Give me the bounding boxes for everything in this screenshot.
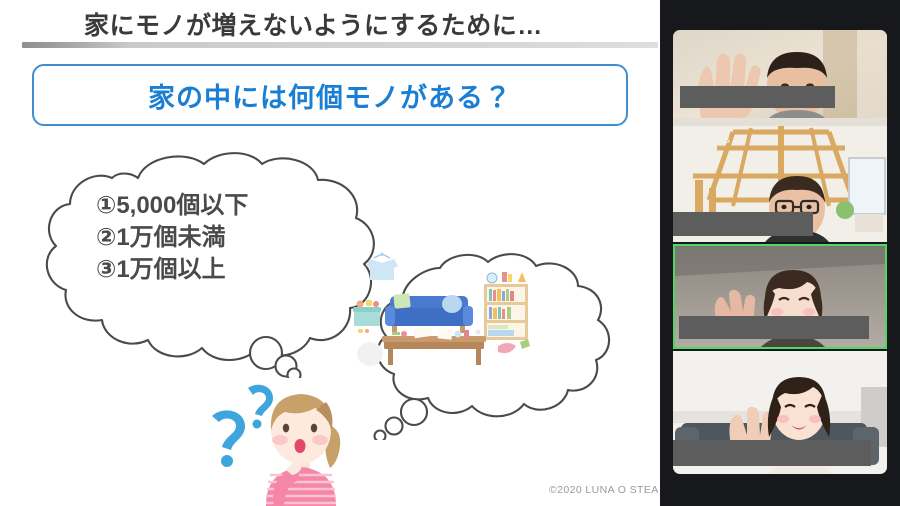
title-divider [22, 42, 658, 48]
living-room-illustration [352, 250, 542, 370]
bookshelf-icon [484, 272, 528, 340]
room-thought-bubble [352, 250, 622, 440]
options-thought-bubble: ①5,000個以下 ②1万個未満 ③1万個以上 [18, 148, 388, 378]
laundry-bag-icon [357, 342, 383, 366]
participant-name-redaction-2 [673, 212, 813, 236]
coffee-table-icon [382, 327, 486, 365]
hanging-shirt-icon [366, 252, 398, 280]
question-callout-box: 家の中には何個モノがある？ [32, 64, 628, 126]
toy-block-icon [520, 339, 530, 349]
toy-box-icon [353, 300, 381, 333]
video-conference-panel: POLUS GROUPPOLUSポラスグループ [660, 0, 900, 506]
answer-options-list: ①5,000個以下 ②1万個未満 ③1万個以上 [96, 190, 366, 286]
answer-option-2: ②1万個未満 [96, 222, 366, 254]
copyright-text: ©2020 LUNA O STEA [549, 484, 659, 496]
participant-name-redaction-3 [679, 316, 869, 339]
polus-watermark: POLUS GROUPPOLUSポラスグループ [695, 132, 731, 149]
woman-figure [200, 378, 360, 506]
sofa-icon [385, 293, 473, 333]
answer-option-3: ③1万個以上 [96, 254, 366, 286]
participant-tile-1[interactable] [673, 30, 887, 118]
presentation-slide: 家にモノが増えないようにするために… 家の中には何個モノがある？ ①5,000個… [0, 0, 660, 506]
participant-head-1 [767, 52, 827, 118]
screen: 家にモノが増えないようにするために… 家の中には何個モノがある？ ①5,000個… [0, 0, 900, 506]
participant-tile-3[interactable] [673, 244, 887, 349]
answer-option-1: ①5,000個以下 [96, 190, 366, 222]
participant-tile-2[interactable]: POLUS GROUPPOLUSポラスグループ [673, 118, 887, 242]
thinking-person-illustration [200, 378, 360, 506]
page-title: 家にモノが増えないようにするために… [84, 6, 543, 42]
question-callout-text: 家の中には何個モノがある？ [148, 76, 512, 115]
slipper-icon [498, 343, 516, 353]
participant-name-redaction-4 [673, 440, 871, 466]
participant-name-redaction-1 [680, 86, 835, 108]
participant-tile-4[interactable] [673, 351, 887, 474]
